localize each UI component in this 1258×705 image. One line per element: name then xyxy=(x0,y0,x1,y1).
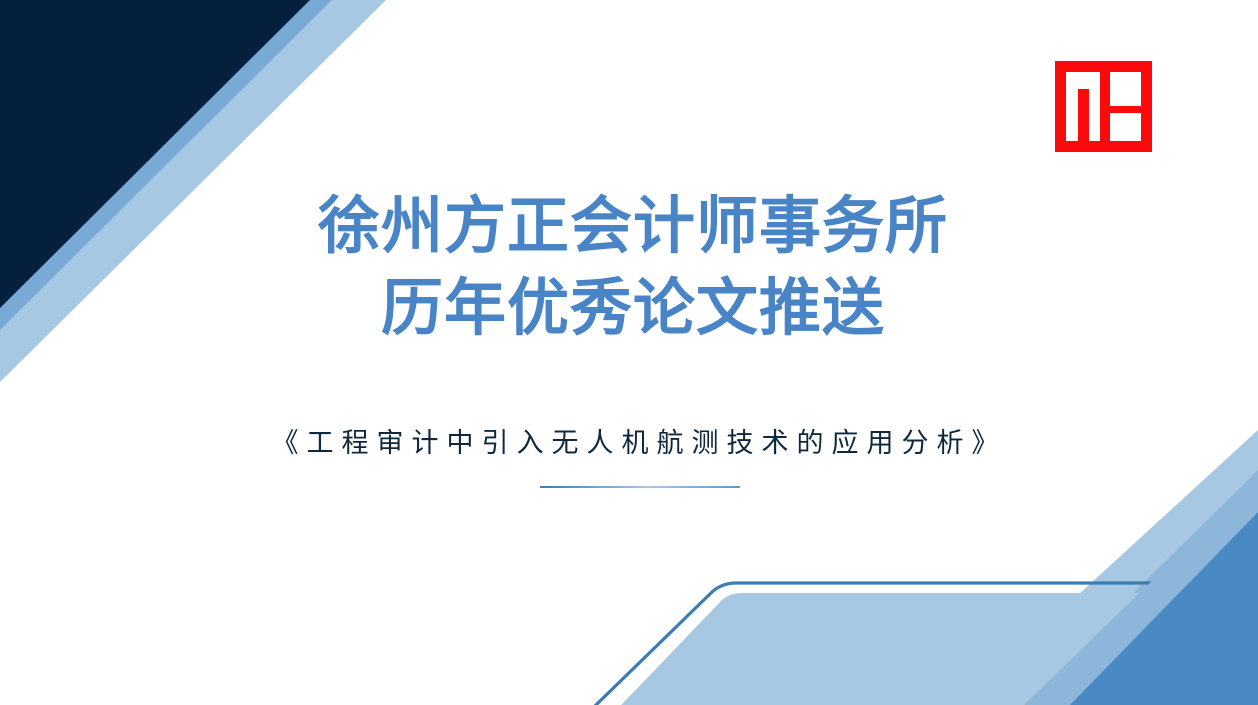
title-divider xyxy=(540,486,740,488)
title-line-primary: 徐州方正会计师事务所 xyxy=(8,186,1258,268)
bottom-rounded-banner-fill xyxy=(576,370,1258,705)
mid-blue-corner-wedge xyxy=(1020,470,1258,705)
banner-mid-blue-band xyxy=(1024,478,1258,705)
logo-right-top-rect xyxy=(1110,72,1141,106)
title-line-secondary: 历年优秀论文推送 xyxy=(8,268,1258,350)
logo-right-bottom-rect xyxy=(1110,113,1141,141)
fangzheng-logo xyxy=(1055,61,1152,152)
slide-subtitle: 《工程审计中引入无人机航测技术的应用分析》 xyxy=(10,424,1258,462)
title-slide: 徐州方正会计师事务所 历年优秀论文推送 《工程审计中引入无人机航测技术的应用分析… xyxy=(0,0,1258,705)
page-title: 徐州方正会计师事务所 历年优秀论文推送 xyxy=(0,186,1258,350)
light-blue-corner-wedge xyxy=(958,430,1258,705)
accent-blue-corner-wedge xyxy=(1068,505,1258,705)
bottom-rounded-banner-outline xyxy=(560,358,1258,705)
banner-accent-wedge xyxy=(1070,512,1258,705)
